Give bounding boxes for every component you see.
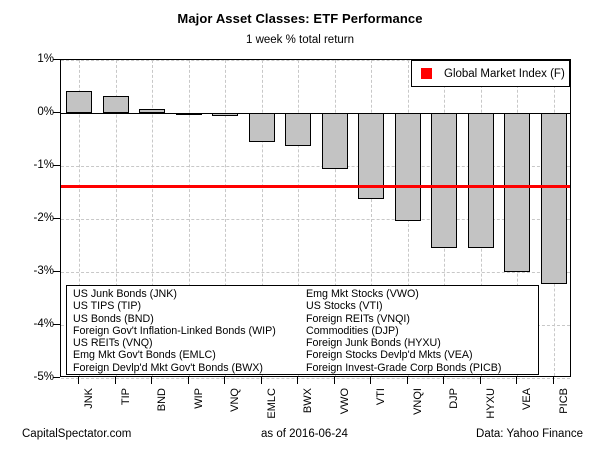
bar-bnd <box>139 109 165 113</box>
series-key-item: US Stocks (VTI) <box>306 300 536 312</box>
x-axis-tick-mark <box>188 377 189 384</box>
x-axis-tick-mark <box>115 377 116 384</box>
bar-djp <box>431 113 457 248</box>
chart-footer: CapitalSpectator.com as of 2016-06-24 Da… <box>0 428 600 448</box>
series-key-item: Foreign Devlp'd Mkt Gov't Bonds (BWX) <box>73 362 306 374</box>
x-axis-tick-mark <box>407 377 408 384</box>
chart-subtitle: 1 week % total return <box>0 34 600 46</box>
x-axis-tick-label-bnd: BND <box>156 388 168 411</box>
bar-vnqi <box>395 113 421 221</box>
x-axis-tick-label-tip: TIP <box>120 388 132 405</box>
series-key-item: US Junk Bonds (JNK) <box>73 288 306 300</box>
x-axis-tick-mark <box>480 377 481 384</box>
bar-vea <box>504 113 530 272</box>
bar-jnk <box>66 91 92 113</box>
series-key-item: Foreign Stocks Devlp'd Mkts (VEA) <box>306 349 536 361</box>
series-key-item: Commodities (DJP) <box>306 325 536 337</box>
x-axis-tick-label-vti: VTI <box>375 388 387 405</box>
series-key-item: US Bonds (BND) <box>73 313 306 325</box>
series-key-box: US Junk Bonds (JNK)US TIPS (TIP)US Bonds… <box>66 285 539 375</box>
x-axis-tick-mark <box>261 377 262 384</box>
x-axis-tick-mark <box>370 377 371 384</box>
etf-performance-chart: Major Asset Classes: ETF Performance 1 w… <box>0 0 600 450</box>
y-axis-tick-mark <box>53 112 60 113</box>
footer-source: CapitalSpectator.com <box>22 428 131 440</box>
x-axis-tick-label-picb: PICB <box>558 388 570 414</box>
benchmark-legend-label: Global Market Index (F) <box>444 68 565 80</box>
x-axis-tick-mark <box>224 377 225 384</box>
benchmark-line <box>61 185 570 188</box>
x-axis-tick-mark <box>516 377 517 384</box>
series-key-item: Foreign Gov't Inflation-Linked Bonds (WI… <box>73 325 306 337</box>
series-key-left-column: US Junk Bonds (JNK)US TIPS (TIP)US Bonds… <box>73 288 306 374</box>
series-key-item: Foreign Junk Bonds (HYXU) <box>306 337 536 349</box>
series-key-item: Foreign REITs (VNQI) <box>306 313 536 325</box>
bar-tip <box>103 96 129 113</box>
y-axis-tick-label: -4% <box>8 318 54 330</box>
chart-title: Major Asset Classes: ETF Performance <box>0 11 600 26</box>
bar-bwx <box>285 113 311 146</box>
x-axis-tick-mark <box>334 377 335 384</box>
benchmark-color-swatch <box>421 68 432 79</box>
footer-asof-date: as of 2016-06-24 <box>261 428 348 440</box>
bar-vwo <box>322 113 348 169</box>
bar-hyxu <box>468 113 494 248</box>
y-axis-tick-mark <box>53 165 60 166</box>
y-axis-tick-mark <box>53 218 60 219</box>
series-key-item: US REITs (VNQ) <box>73 337 306 349</box>
bar-wip <box>176 113 202 115</box>
y-axis-tick-mark <box>53 271 60 272</box>
footer-data-provider: Data: Yahoo Finance <box>476 428 583 440</box>
horizontal-gridline <box>61 166 570 167</box>
series-key-item: Foreign Invest-Grade Corp Bonds (PICB) <box>306 362 536 374</box>
x-axis-tick-label-bwx: BWX <box>302 388 314 413</box>
x-axis-tick-label-vnq: VNQ <box>229 388 241 412</box>
x-axis-tick-label-vnqi: VNQI <box>412 388 424 415</box>
x-axis-tick-label-emlc: EMLC <box>266 388 278 419</box>
series-key-item: Emg Mkt Gov't Bonds (EMLC) <box>73 349 306 361</box>
benchmark-legend: Global Market Index (F) <box>411 60 570 87</box>
y-axis-tick-label: -2% <box>8 212 54 224</box>
y-axis-tick-label: -1% <box>8 159 54 171</box>
series-key-item: Emg Mkt Stocks (VWO) <box>306 288 536 300</box>
series-key-item: US TIPS (TIP) <box>73 300 306 312</box>
y-axis-tick-label: 1% <box>8 53 54 65</box>
zero-baseline <box>61 113 570 114</box>
y-axis-tick-label: 0% <box>8 106 54 118</box>
x-axis-tick-mark <box>553 377 554 384</box>
y-axis-tick-mark <box>53 59 60 60</box>
x-axis-tick-mark <box>78 377 79 384</box>
x-axis-tick-mark <box>151 377 152 384</box>
x-axis-tick-label-vwo: VWO <box>339 388 351 414</box>
horizontal-gridline <box>61 272 570 273</box>
x-axis-tick-label-wip: WIP <box>193 388 205 409</box>
x-axis-tick-label-jnk: JNK <box>83 388 95 409</box>
y-axis-tick-mark <box>53 324 60 325</box>
bar-vnq <box>212 113 238 116</box>
bar-emlc <box>249 113 275 142</box>
horizontal-gridline <box>61 219 570 220</box>
x-axis-tick-label-djp: DJP <box>448 388 460 409</box>
x-axis-tick-label-vea: VEA <box>521 388 533 410</box>
series-key-right-column: Emg Mkt Stocks (VWO)US Stocks (VTI)Forei… <box>306 288 536 374</box>
bar-picb <box>541 113 567 284</box>
x-axis-tick-mark <box>443 377 444 384</box>
x-axis-tick-label-hyxu: HYXU <box>485 388 497 419</box>
y-axis-tick-label: -3% <box>8 265 54 277</box>
x-axis-tick-mark <box>297 377 298 384</box>
